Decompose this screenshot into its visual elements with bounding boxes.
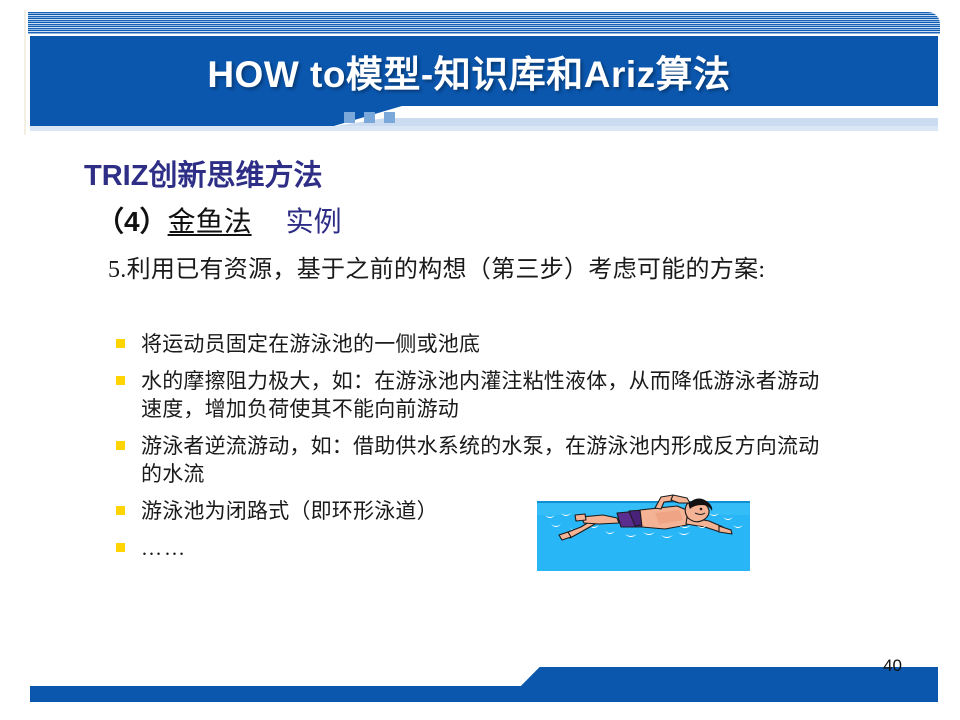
subsection-heading: （4）金鱼法实例 (96, 200, 342, 240)
decor-square-group (344, 112, 395, 123)
bullet-square-icon (116, 376, 125, 385)
subsection-accent-label: 实例 (286, 207, 342, 238)
page-number: 40 (883, 656, 902, 676)
slide-header: HOW to模型-知识库和Ariz算法 (0, 0, 960, 136)
step-description: 5.利用已有资源，基于之前的构想（第三步）考虑可能的方案: (108, 255, 798, 286)
striped-ribbon-decor (28, 12, 940, 34)
list-item-label: 游泳者逆流游动，如：借助供水系统的水泵，在游泳池内形成反方向流动的水流 (141, 432, 836, 488)
title-underline-strip (30, 126, 938, 131)
bullet-square-icon (116, 543, 125, 552)
section-heading: TRIZ创新思维方法 (84, 152, 322, 194)
bullet-square-icon (116, 339, 125, 348)
footer-bar-high (505, 667, 938, 702)
section-heading-cjk: 创新思维方法 (148, 160, 322, 192)
subsection-method-name: 金鱼法 (168, 207, 252, 238)
list-item-label: 游泳池为闭路式（即环形泳道） (141, 497, 561, 525)
decor-square-icon (364, 112, 375, 123)
bullet-square-icon (116, 441, 125, 450)
page-title: HOW to模型-知识库和Ariz算法 (0, 36, 938, 106)
decor-square-icon (384, 112, 395, 123)
list-item: 水的摩擦阻力极大，如：在游泳池内灌注粘性液体，从而降低游泳者游动速度，增加负荷使… (116, 367, 836, 423)
list-item-label: 将运动员固定在游泳池的一侧或池底 (141, 330, 836, 358)
list-item: 游泳者逆流游动，如：借助供水系统的水泵，在游泳池内形成反方向流动的水流 (116, 432, 836, 488)
slide-canvas: HOW to模型-知识库和Ariz算法 TRIZ创新思维方法 （4）金鱼法实例 … (0, 0, 960, 720)
list-item-label: 水的摩擦阻力极大，如：在游泳池内灌注粘性液体，从而降低游泳者游动速度，增加负荷使… (141, 367, 836, 423)
bullet-square-icon (116, 506, 125, 515)
list-item: 将运动员固定在游泳池的一侧或池底 (116, 330, 836, 358)
subsection-number: （4） (96, 206, 168, 237)
decor-square-icon (344, 112, 355, 123)
section-heading-latin: TRIZ (84, 160, 148, 192)
swimmer-illustration (537, 491, 750, 571)
